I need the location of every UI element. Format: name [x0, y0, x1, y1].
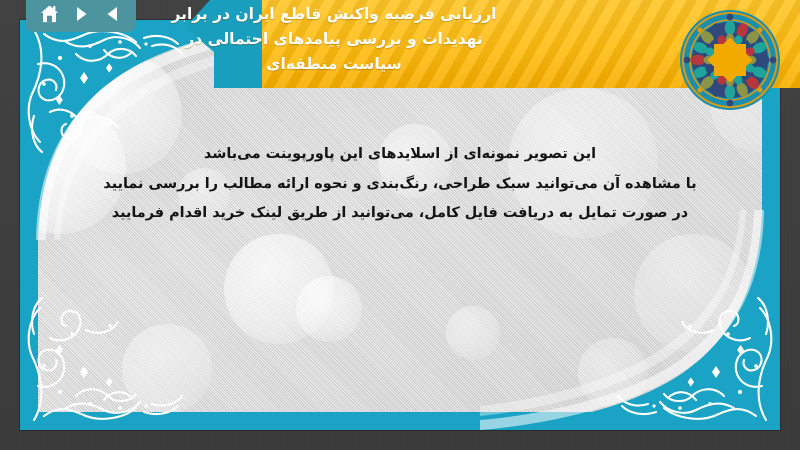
slide-body-text: این تصویر نمونه‌ای از اسلایدهای این پاور… — [60, 140, 740, 229]
home-icon — [39, 4, 60, 25]
slide-preview-stage: این تصویر نمونه‌ای از اسلایدهای این پاور… — [0, 0, 800, 450]
navigation-toolbar — [26, 0, 136, 32]
body-line: با مشاهده آن می‌توانید سبک طراحی، رنگ‌بن… — [60, 170, 740, 200]
triangle-right-icon — [72, 5, 90, 23]
triangle-left-icon — [104, 5, 122, 23]
persian-medallion-ornament — [678, 8, 782, 112]
bokeh-blob — [446, 306, 500, 360]
bokeh-blob — [296, 276, 362, 342]
body-line: در صورت تمایل به دریافت فایل کامل، می‌تو… — [60, 199, 740, 229]
bokeh-blob — [634, 234, 752, 352]
next-slide-button[interactable] — [68, 1, 94, 27]
eight-point-star-icon — [707, 37, 752, 82]
prev-slide-button[interactable] — [100, 1, 126, 27]
bokeh-blob — [224, 234, 334, 344]
home-button[interactable] — [36, 1, 62, 27]
body-line: این تصویر نمونه‌ای از اسلایدهای این پاور… — [60, 140, 740, 170]
bokeh-blob — [122, 324, 212, 412]
presentation-slide: این تصویر نمونه‌ای از اسلایدهای این پاور… — [20, 20, 780, 430]
bokeh-blob — [578, 338, 648, 408]
